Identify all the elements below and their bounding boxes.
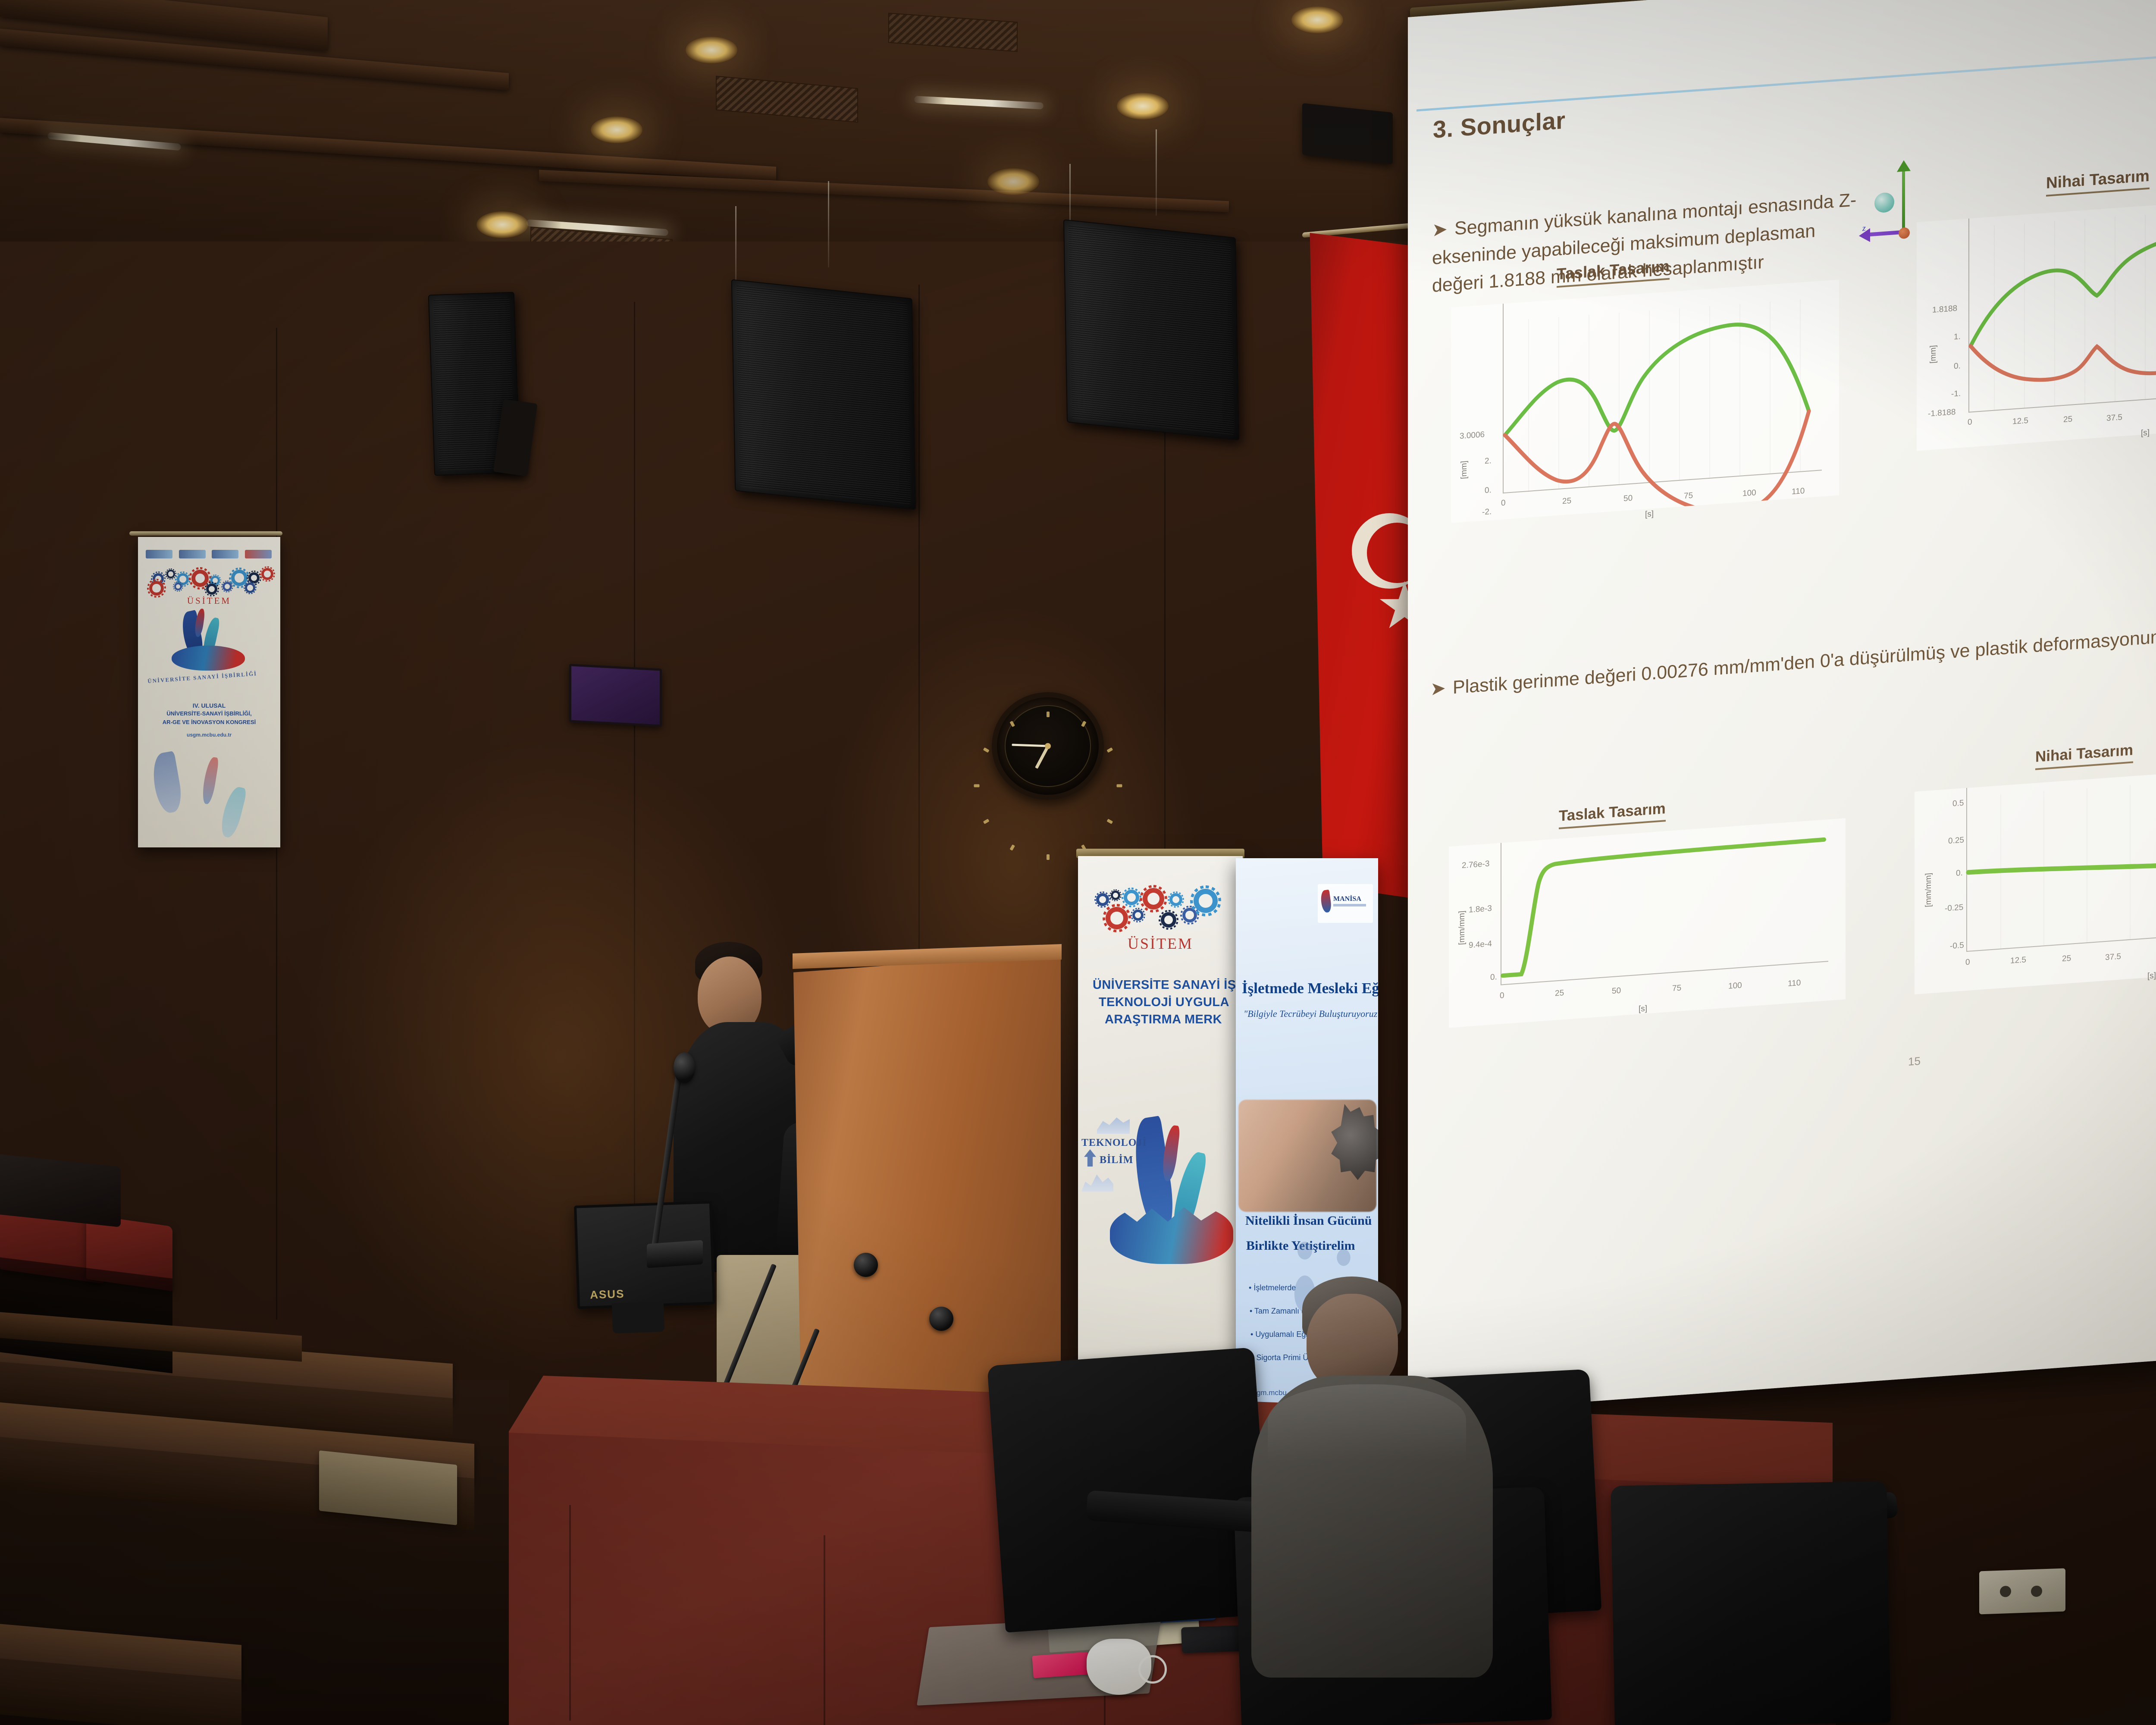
slide-section-title: 3. Sonuçlar [1433,106,1565,144]
center-banner-headline-3: ARAŞTIRMA MERK [1078,1012,1243,1027]
line-array-speaker-center [731,279,916,510]
gear-icon [166,570,175,578]
ceiling-downlight-4 [1117,93,1169,119]
center-banner-keyword-bilim: BİLİM [1100,1154,1133,1166]
projector-screen: 3. Sonuçlar ➤Segmanın yüksük kanalına mo… [1408,0,2156,1414]
microphone-base-podium [647,1240,703,1268]
conference-room-photo: ÜSİTEM ÜNİVERSİTE SANAYİ İŞBİRLİĞİ IV. U… [0,0,2156,1725]
triad-origin-ball [1874,192,1894,213]
gear-icon [206,583,217,595]
gear-icon [1106,907,1128,929]
microphone-head-table-left [854,1253,878,1277]
center-banner-headline-2: TEKNOLOJİ UYGULA [1078,995,1243,1010]
table-panel-seam-1 [569,1505,571,1721]
blue-banner-logo-text: MANİSA [1333,895,1361,903]
gear-icon [1194,889,1218,913]
microphone-head-podium [674,1052,695,1083]
gear-icon [1161,912,1176,928]
wall-power-socket [1979,1568,2065,1615]
monitor-stand [612,1302,664,1333]
ceiling-downlight-6 [987,168,1039,195]
pennant-line-3: AR-GE VE İNOVASYON KONGRESİ [138,719,280,726]
gear-icon [1169,893,1182,906]
bullet-arrow-icon: ➤ [1430,678,1446,700]
speaker-wire-4 [1156,129,1157,216]
blue-banner-heading-1: Nitelikli İnsan Gücünü [1245,1213,1372,1229]
gear-icon [1143,888,1164,910]
center-banner-headline-1: ÜNİVERSİTE SANAYİ İŞ [1078,978,1243,993]
line-array-speaker-right [1063,219,1239,440]
center-banner-gear-cluster [1089,877,1236,928]
pennant-line-2: ÜNİVERSİTE-SANAYİ İŞBİRLİĞİ, [138,710,280,718]
slide-accent-line [1416,38,2156,112]
usitem-swoosh-logo [169,608,251,673]
blue-banner-logo-block: MANİSA [1318,884,1373,923]
pennant-url: usgm.mcbu.edu.tr [138,732,280,739]
ceiling-downlight-3 [476,211,528,238]
desk-mask-strap [1138,1655,1167,1684]
blue-banner-title: İşletmede Mesleki Eğitim [1242,980,1378,997]
wall-pennant: ÜSİTEM ÜNİVERSİTE SANAYİ İŞBİRLİĞİ IV. U… [138,537,280,847]
slide-bullet-2: ➤Plastik gerinme değeri 0.00276 mm/mm'de… [1430,608,2156,703]
attendee-shoulder-highlight [1268,1384,1466,1462]
chart-label-draft-strain: Taslak Tasarım [1559,800,1666,829]
slide-bullet-2-text: Plastik gerinme değeri 0.00276 mm/mm'den… [1453,612,2156,698]
center-banner-keyword-teknoloji: TEKNOLOJİ [1081,1137,1147,1149]
monitor-brand-label: ASUS [590,1287,625,1302]
gear-icon [261,568,273,580]
pennant-usitem-logo-text: ÜSİTEM [138,596,280,606]
auditorium-seat-block [0,1160,181,1419]
gear-icon [149,581,164,596]
chart-final-displacement: 1.8188 1. 0. -1. -1.8188 [mm] 0 12.5 25 … [1917,189,2156,451]
presentation-slide: 3. Sonuçlar ➤Segmanın yüksük kanalına mo… [1408,0,2156,1414]
wall-clock [992,692,1104,800]
gear-icon [1096,893,1109,906]
clock-dial [1005,705,1091,787]
desk-pink-slip [1032,1652,1089,1678]
chart-draft-plastic-strain: 2.76e-3 1.8e-3 9.4e-4 0. [mm/mm] 0 25 50… [1449,818,1846,1028]
clock-minute-hand [1012,744,1048,747]
chart-final-plastic-strain: 0.5 0.25 0. -0.25 -0.5 [mm/mm] 0 12.5 25… [1915,757,2156,994]
chart-label-final-displacement: Nihai Tasarım [2046,167,2150,197]
auditorium-seat-backs [0,1153,121,1227]
gear-icon [1132,910,1144,921]
speaker-wire-2 [828,181,829,267]
bullet-arrow-icon: ➤ [1432,219,1448,241]
ceiling-downlight-5 [1291,6,1343,33]
clock-center-pin [1045,743,1051,749]
ceiling-downlight-1 [686,37,737,63]
slide-page-number: 15 [1908,1054,1921,1069]
center-banner-usitem-logo-text: ÜSİTEM [1078,935,1243,953]
seated-attendee [1242,1276,1656,1725]
microphone-head-table-right [929,1307,953,1331]
speaker-grille [1069,225,1234,435]
ceiling-downlight-2 [591,116,642,143]
gear-icon [1124,890,1139,905]
pennant-line-1: IV. ULUSAL [138,702,280,709]
wall-display-panel [569,664,662,727]
gear-icon [174,583,182,590]
chart-draft-displacement: 3.0006 2. 0. -2. [mm] 0 25 50 75 100 110… [1451,279,1839,523]
gear-icon [245,583,255,593]
pennant-rod [129,531,282,536]
wall-seam-2 [634,302,635,1315]
gear-icon [1111,891,1120,900]
blue-banner-subtitle: "Bilgiyle Tecrübeyi Buluşturuyoruz" [1244,1008,1378,1019]
chart-label-final-strain: Nihai Tasarım [2035,741,2133,770]
speaker-grille [736,285,911,505]
center-banner-arrow-up-icon [1084,1149,1096,1167]
conference-chair-1 [987,1347,1272,1633]
ceiling-projector-mount [1302,103,1393,164]
triad-y-axis [1902,167,1905,232]
table-panel-seam-2 [824,1535,825,1725]
